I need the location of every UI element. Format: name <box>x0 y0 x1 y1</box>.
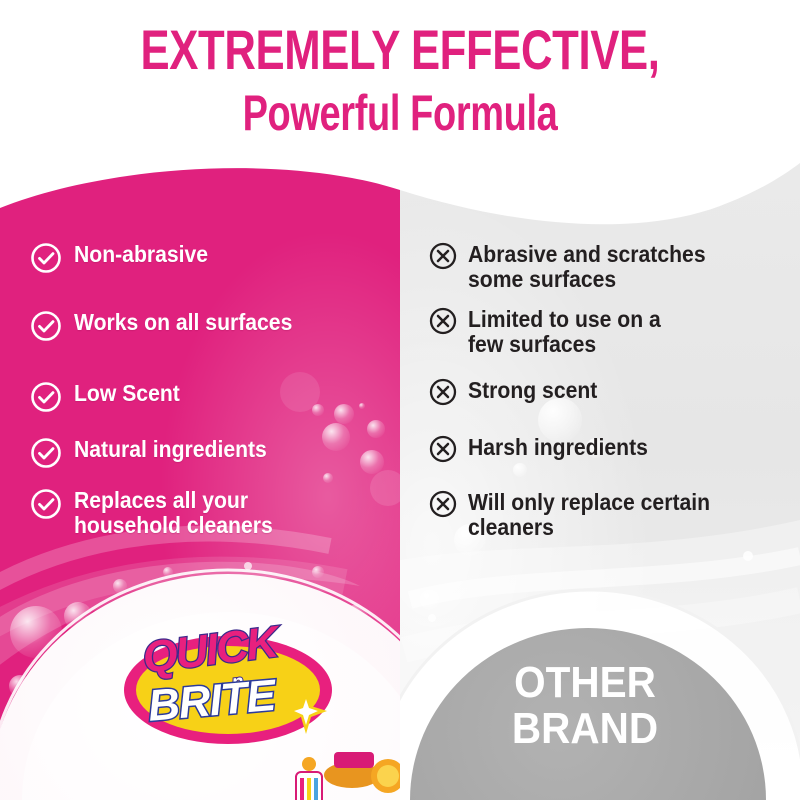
list-item: Abrasive and scratches some surfaces <box>429 242 799 292</box>
circle-check-icon <box>30 381 62 418</box>
list-item-label: Limited to use on a few surfaces <box>468 307 661 357</box>
other-brand-line-1: OTHER <box>479 660 691 706</box>
circle-check-icon <box>30 437 62 474</box>
infographic-canvas: EXTREMELY EFFECTIVE, Powerful Formula No… <box>0 0 800 800</box>
list-item-label: Harsh ingredients <box>468 435 648 460</box>
circle-x-icon <box>429 378 457 411</box>
list-item-label: Low Scent <box>74 381 180 406</box>
circle-check-icon <box>30 310 62 347</box>
list-item: Works on all surfaces <box>30 310 390 347</box>
other-brand-line-2: BRAND <box>479 706 691 752</box>
list-item: Limited to use on a few surfaces <box>429 307 799 357</box>
headline: EXTREMELY EFFECTIVE, Powerful Formula <box>0 0 800 138</box>
list-item: Natural ingredients <box>30 437 390 474</box>
list-item: Non-abrasive <box>30 242 390 279</box>
circle-check-icon <box>30 242 62 279</box>
circle-x-icon <box>429 490 457 523</box>
list-item-label: Abrasive and scratches some surfaces <box>468 242 706 292</box>
other-brand-label: OTHER BRAND <box>479 660 691 752</box>
list-item-label: Replaces all your household cleaners <box>74 488 273 538</box>
quick-brite-logo: QUICK n BRITE <box>128 628 328 748</box>
headline-line-2: Powerful Formula <box>96 88 704 138</box>
circle-check-icon <box>30 488 62 525</box>
list-item: Replaces all your household cleaners <box>30 488 390 538</box>
list-item: Harsh ingredients <box>429 435 799 468</box>
list-item-label: Strong scent <box>468 378 597 403</box>
list-item-label: Non-abrasive <box>74 242 208 267</box>
list-item: Will only replace certain cleaners <box>429 490 799 540</box>
list-item: Low Scent <box>30 381 390 418</box>
circle-x-icon <box>429 435 457 468</box>
circle-x-icon <box>429 242 457 275</box>
headline-line-1: EXTREMELY EFFECTIVE, <box>88 22 712 78</box>
list-item-label: Natural ingredients <box>74 437 267 462</box>
circle-x-icon <box>429 307 457 340</box>
list-item-label: Works on all surfaces <box>74 310 292 335</box>
list-item-label: Will only replace certain cleaners <box>468 490 710 540</box>
list-item: Strong scent <box>429 378 799 411</box>
logo-word-brite: BRITE <box>146 671 277 732</box>
